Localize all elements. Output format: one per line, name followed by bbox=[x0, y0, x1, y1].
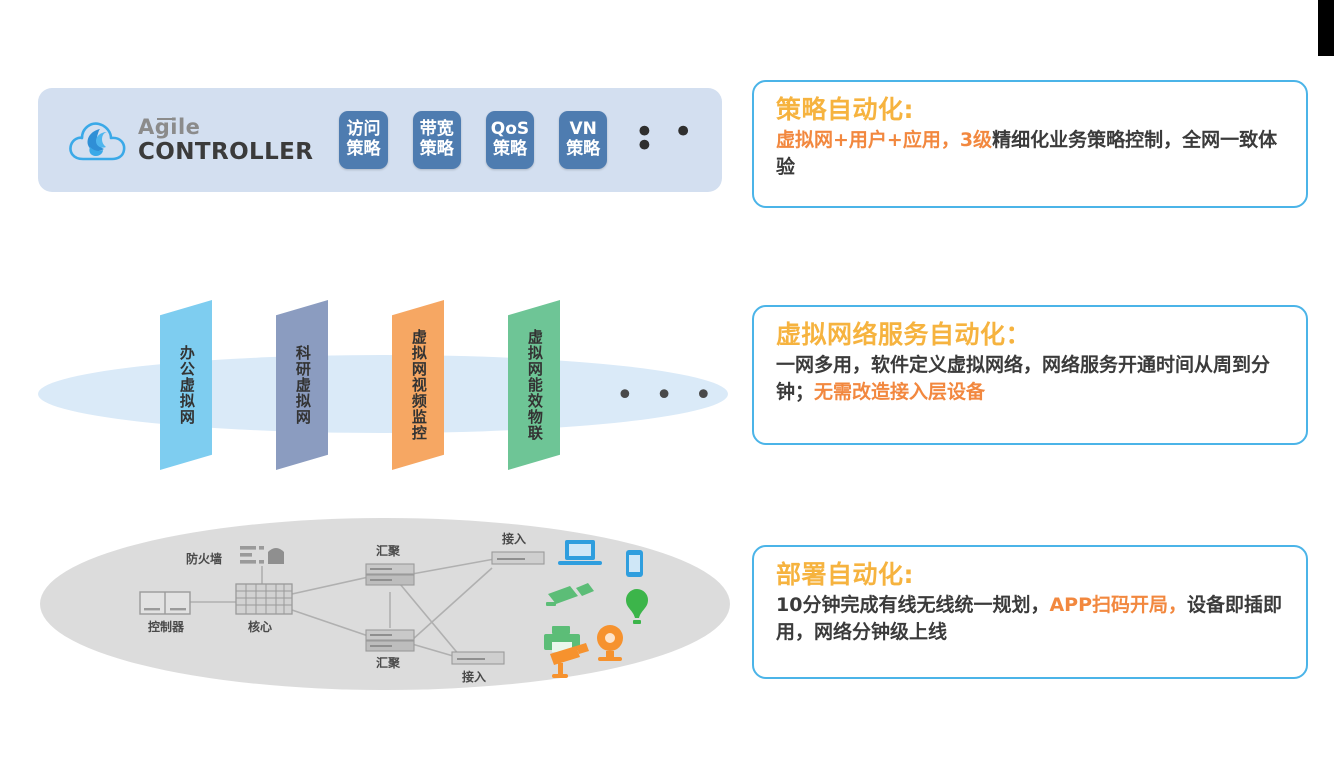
access-switch-bottom-icon bbox=[452, 652, 504, 664]
slab-label-col: 虚拟网 bbox=[526, 329, 542, 377]
card-body: 10分钟完成有线无线统一规划，APP扫码开局，设备即插即用，网络分钟级上线 bbox=[776, 592, 1284, 646]
slab-label-col: 办公虚拟网 bbox=[178, 345, 194, 425]
node-label-aggregation-top: 汇聚 bbox=[376, 542, 400, 559]
vn-slab-video-surveillance[interactable]: 视频监控 虚拟网 bbox=[392, 300, 444, 470]
webcam-icon bbox=[597, 625, 623, 661]
slab-label: 视频监控 虚拟网 bbox=[376, 300, 460, 470]
lightbulb-icon bbox=[626, 589, 648, 624]
cloud-swirl-icon bbox=[66, 114, 128, 166]
node-label-controller: 控制器 bbox=[148, 618, 184, 635]
chip-line2: 策略 bbox=[346, 140, 380, 160]
corner-black-bar bbox=[1318, 0, 1334, 56]
policy-chip-bandwidth[interactable]: 带宽 策略 bbox=[413, 111, 461, 169]
agile-controller-band: Agile CONTROLLER 访问 策略 带宽 策略 QoS 策略 VN 策… bbox=[38, 88, 722, 192]
access-switch-top-icon bbox=[492, 552, 544, 564]
card-text-accent: 无需改造接入层设备 bbox=[814, 381, 985, 403]
chip-line1: VN bbox=[570, 120, 597, 140]
firewall-icon bbox=[240, 546, 284, 564]
slab-label: 办公虚拟网 bbox=[160, 300, 212, 470]
slab-label: 能效物联 虚拟网 bbox=[492, 300, 576, 470]
vn-more-ellipsis: • • • bbox=[616, 378, 718, 413]
chip-line2: 策略 bbox=[566, 140, 600, 160]
vn-slab-research[interactable]: 科研虚拟网 bbox=[276, 300, 328, 470]
laptop-icon bbox=[558, 540, 602, 565]
core-switch-icon bbox=[236, 584, 292, 614]
policy-chip-group: 访问 策略 带宽 策略 QoS 策略 VN 策略 • • • bbox=[339, 111, 722, 169]
brand-controller: CONTROLLER bbox=[138, 141, 313, 164]
agile-controller-wordmark: Agile CONTROLLER bbox=[138, 117, 313, 164]
policy-more-ellipsis: • • • bbox=[634, 126, 722, 153]
chip-line1: 访问 bbox=[346, 120, 380, 140]
node-label-access-bottom: 接入 bbox=[462, 668, 486, 685]
chip-line2: 策略 bbox=[420, 140, 454, 160]
link-agg-top-access-top bbox=[412, 558, 500, 574]
vn-slab-energy-iot[interactable]: 能效物联 虚拟网 bbox=[508, 300, 560, 470]
chip-line2: 策略 bbox=[493, 140, 527, 160]
deployment-automation-card: 部署自动化: 10分钟完成有线无线统一规划，APP扫码开局，设备即插即用，网络分… bbox=[752, 545, 1308, 679]
card-text-accent: APP扫码开局， bbox=[1049, 594, 1187, 616]
virtual-network-service-automation-card: 虚拟网络服务自动化： 一网多用，软件定义虚拟网络，网络服务开通时间从周到分钟；无… bbox=[752, 305, 1308, 445]
slab-label-col: 能效物联 bbox=[526, 377, 542, 441]
network-topology-diagram: 控制器 防火墙 核心 汇聚 汇聚 接入 接入 bbox=[40, 518, 730, 690]
node-label-access-top: 接入 bbox=[502, 530, 526, 547]
card-text-plain: 10分钟完成有线无线统一规划， bbox=[776, 594, 1049, 616]
slab-label: 科研虚拟网 bbox=[276, 300, 328, 470]
node-label-aggregation-bottom: 汇聚 bbox=[376, 654, 400, 671]
card-body: 虚拟网+用户+应用，3级精细化业务策略控制，全网一致体验 bbox=[776, 127, 1284, 181]
slab-label-col: 视频监控 bbox=[410, 377, 426, 441]
vn-slab-office[interactable]: 办公虚拟网 bbox=[160, 300, 212, 470]
policy-chip-vn[interactable]: VN 策略 bbox=[559, 111, 607, 169]
node-label-firewall: 防火墙 bbox=[186, 550, 222, 567]
card-title: 部署自动化: bbox=[776, 561, 1284, 590]
slide-canvas: Agile CONTROLLER 访问 策略 带宽 策略 QoS 策略 VN 策… bbox=[0, 0, 1334, 783]
link-agg-bottom-access-top bbox=[412, 568, 492, 640]
chip-line1: QoS bbox=[491, 120, 529, 140]
policy-automation-card: 策略自动化: 虚拟网+用户+应用，3级精细化业务策略控制，全网一致体验 bbox=[752, 80, 1308, 208]
policy-chip-access[interactable]: 访问 策略 bbox=[339, 111, 387, 169]
card-title: 策略自动化: bbox=[776, 96, 1284, 125]
aggregation-switch-bottom-icon bbox=[366, 630, 414, 651]
aggregation-switch-top-icon bbox=[366, 564, 414, 585]
agile-controller-logo: Agile CONTROLLER bbox=[66, 114, 313, 166]
node-label-core: 核心 bbox=[248, 618, 272, 635]
controller-icon bbox=[140, 592, 190, 614]
chip-line1: 带宽 bbox=[420, 120, 454, 140]
slab-label-col: 虚拟网 bbox=[410, 329, 426, 377]
brand-agile: Agile bbox=[138, 117, 200, 138]
smartphone-icon bbox=[626, 550, 643, 577]
virtual-network-slabs: 办公虚拟网 科研虚拟网 视频监控 虚拟网 能效物联 虚拟网 • • • bbox=[38, 300, 728, 490]
slab-label-col: 科研虚拟网 bbox=[294, 345, 310, 425]
card-body: 一网多用，软件定义虚拟网络，网络服务开通时间从周到分钟；无需改造接入层设备 bbox=[776, 352, 1284, 406]
card-text-accent: 虚拟网+用户+应用，3级 bbox=[776, 129, 992, 151]
policy-chip-qos[interactable]: QoS 策略 bbox=[486, 111, 534, 169]
card-title: 虚拟网络服务自动化： bbox=[776, 321, 1284, 350]
wireless-sensor-icon bbox=[546, 583, 594, 606]
